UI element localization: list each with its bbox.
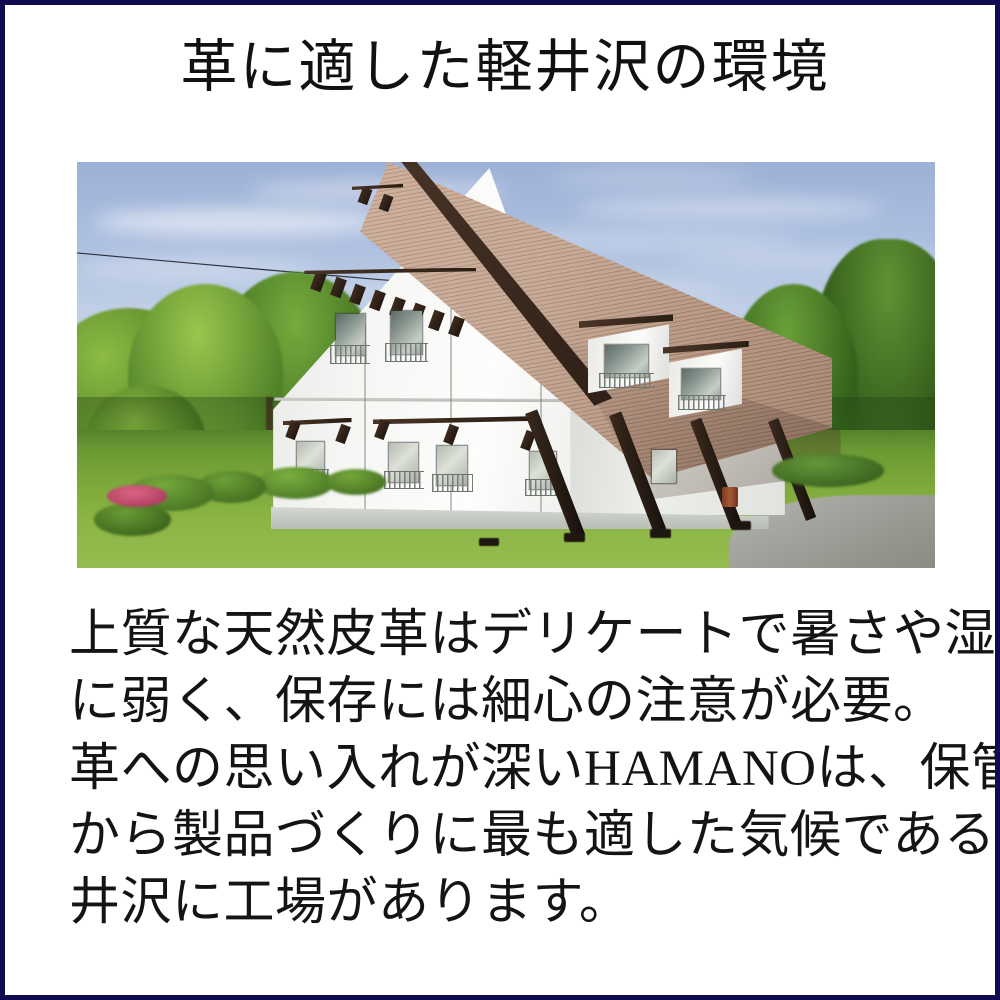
- body-line: から製品づくりに最も適した気候である軽: [69, 803, 949, 870]
- body-line: 井沢に工場があります。: [69, 870, 949, 937]
- barrel: [722, 487, 737, 507]
- strut-footing: [564, 533, 585, 542]
- balcony-railing: [432, 474, 472, 492]
- balcony-railing: [678, 395, 726, 409]
- shrub: [326, 469, 386, 495]
- strut-footing: [479, 538, 500, 547]
- shrub: [257, 467, 334, 499]
- balcony-railing: [384, 471, 424, 489]
- gable-beam: [358, 187, 373, 206]
- body-copy: 上質な天然皮革はデリケートで暑さや湿気 に弱く、保存には細心の注意が必要。 革へ…: [69, 602, 949, 937]
- balcony-railing: [599, 373, 654, 388]
- strut-footing: [650, 529, 671, 538]
- window: [652, 450, 676, 482]
- shrub: [772, 454, 884, 486]
- gable-beam: [350, 283, 367, 304]
- body-line: 革への思い入れが深いHAMANOは、保管: [69, 736, 949, 803]
- balcony-railing: [330, 345, 370, 364]
- page-frame: 革に適した軽井沢の環境: [0, 0, 1000, 1000]
- page-title: 革に適した軽井沢の環境: [5, 39, 1000, 96]
- strut-footing: [731, 521, 752, 530]
- gable-beam: [330, 277, 347, 298]
- chalet-photo: [77, 162, 935, 568]
- azalea-bush: [107, 485, 167, 507]
- body-line: 上質な天然皮革はデリケートで暑さや湿気: [69, 602, 949, 669]
- a-frame-house: [77, 162, 935, 568]
- shrub: [94, 503, 171, 535]
- photo-frame: [77, 162, 935, 568]
- body-line: に弱く、保存には細心の注意が必要。: [69, 669, 949, 736]
- balcony-railing: [385, 343, 428, 362]
